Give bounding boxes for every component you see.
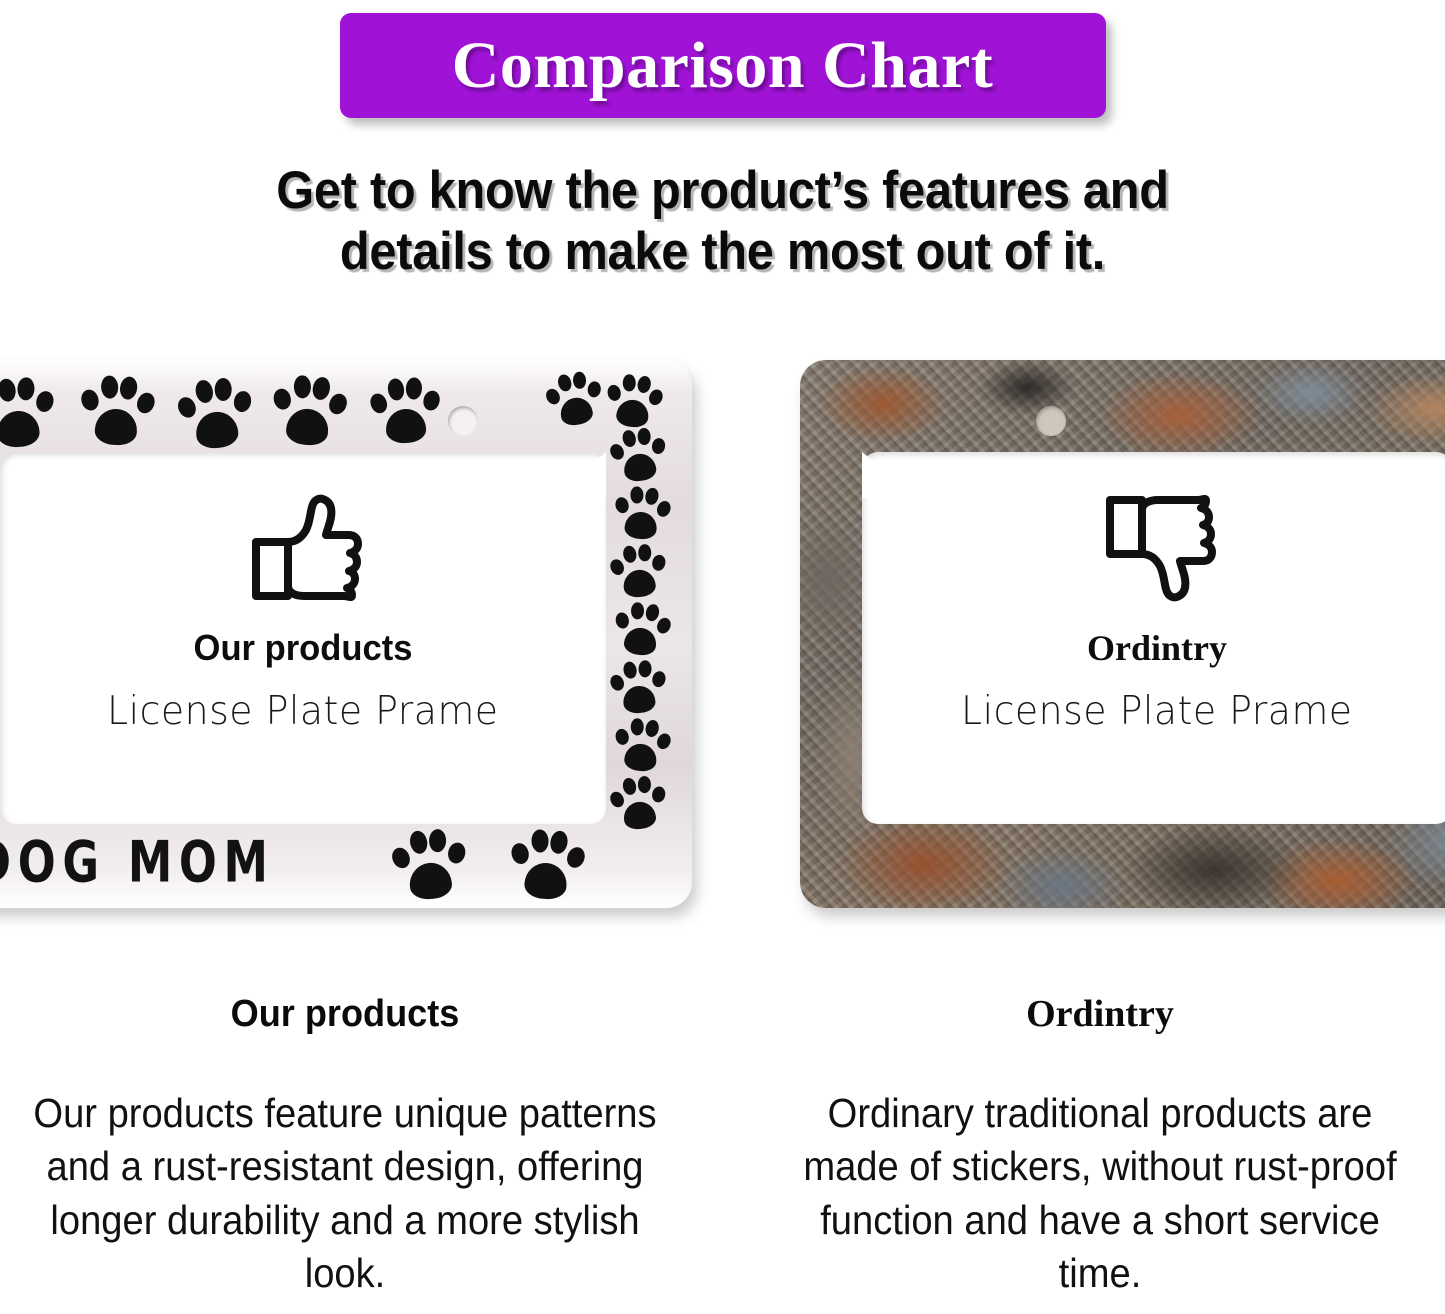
paw-print-icon xyxy=(612,482,673,543)
plate-window: Our products License Plate Prame xyxy=(0,452,606,824)
plate-window-content: Ordintry License Plate Prame xyxy=(862,452,1445,824)
ordinary-product-panel: Ordintry License Plate Prame xyxy=(800,360,1445,908)
paw-print-icon xyxy=(0,372,56,451)
paw-print-icon xyxy=(611,713,673,775)
page-title: Comparison Chart xyxy=(452,33,994,99)
section-description: Ordinary traditional products are made o… xyxy=(784,1087,1416,1300)
section-description: Our products feature unique patterns and… xyxy=(29,1087,661,1300)
subtitle-line-1: Get to know the product’s features and xyxy=(58,160,1387,221)
title-banner-wrapper: Comparison Chart xyxy=(0,13,1445,118)
plate-window-content: Our products License Plate Prame xyxy=(0,452,606,824)
our-products-description-column: Our products Our products feature unique… xyxy=(0,995,690,1300)
card-product-label: License Plate Prame xyxy=(961,692,1353,731)
paw-print-icon xyxy=(606,422,669,485)
plate-slogan-text: DOG MOM xyxy=(0,829,275,896)
paw-print-icon xyxy=(603,369,665,431)
card-brand-label: Our products xyxy=(194,630,413,666)
window-chamfer xyxy=(548,452,606,498)
paw-print-icon xyxy=(608,656,669,717)
mounting-hole xyxy=(448,406,478,436)
ordinary-description-column: Ordintry Ordinary traditional products a… xyxy=(755,995,1445,1300)
paw-print-icon xyxy=(389,823,469,903)
paw-print-icon xyxy=(174,371,255,452)
title-banner: Comparison Chart xyxy=(340,13,1106,118)
mounting-hole xyxy=(1036,406,1066,436)
section-heading: Ordintry xyxy=(755,995,1445,1033)
subtitle-line-2: details to make the most out of it. xyxy=(58,221,1387,282)
paw-print-icon xyxy=(78,370,156,448)
plate-window: Ordintry License Plate Prame xyxy=(862,452,1445,824)
paw-print-icon xyxy=(368,372,442,446)
window-chamfer xyxy=(862,452,920,498)
paw-print-icon xyxy=(542,366,607,431)
thumbs-up-icon xyxy=(244,492,362,604)
paw-print-icon xyxy=(269,369,349,449)
card-brand-label: Ordintry xyxy=(1087,630,1227,666)
subtitle: Get to know the product’s features and d… xyxy=(58,160,1387,283)
card-product-label: License Plate Prame xyxy=(107,692,499,731)
paw-print-icon xyxy=(607,771,669,833)
paw-print-icon xyxy=(611,597,673,659)
paw-print-icon xyxy=(508,824,587,903)
paw-print-icon xyxy=(607,539,669,601)
our-products-panel: DOG MOM Our products License Plate Prame xyxy=(0,360,692,908)
section-heading: Our products xyxy=(17,995,673,1033)
thumbs-down-icon xyxy=(1098,492,1216,604)
